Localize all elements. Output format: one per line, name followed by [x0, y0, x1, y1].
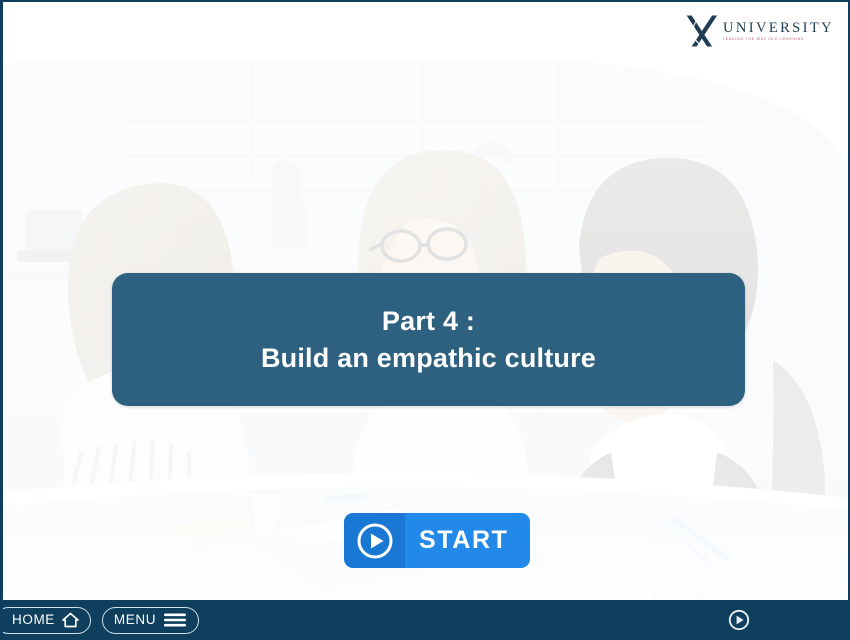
- start-play-icon-box[interactable]: [344, 513, 405, 568]
- university-logo: UNIVERSITY LEADING THE WAY IN E-LEARNING: [682, 10, 834, 52]
- play-circle-icon-bottom[interactable]: [728, 609, 750, 631]
- logo-tagline-text: LEADING THE WAY IN E-LEARNING: [723, 38, 834, 41]
- home-button-label: HOME: [12, 613, 55, 627]
- xc-monogram-icon: [682, 11, 724, 51]
- home-icon: [62, 612, 79, 628]
- slide-title-card: Part 4 : Build an empathic culture: [112, 273, 745, 406]
- start-button-label: START: [419, 526, 508, 555]
- bottom-navigation-bar: HOME MENU: [3, 600, 850, 640]
- play-circle-icon: [356, 522, 394, 560]
- start-label-box[interactable]: START: [405, 513, 530, 568]
- hamburger-icon: [163, 612, 187, 628]
- logo-university-text: UNIVERSITY: [723, 21, 834, 36]
- course-slide: Part 4 : Build an empathic culture START: [0, 0, 850, 640]
- slide-title-line-1: Part 4 :: [382, 303, 475, 340]
- menu-button-label: MENU: [114, 613, 156, 627]
- menu-button[interactable]: MENU: [102, 607, 199, 634]
- logo-wordmark: UNIVERSITY LEADING THE WAY IN E-LEARNING: [723, 21, 834, 42]
- slide-header: UNIVERSITY LEADING THE WAY IN E-LEARNING: [3, 2, 848, 60]
- hero-photo-area: Part 4 : Build an empathic culture START: [3, 60, 848, 602]
- home-button[interactable]: HOME: [0, 607, 91, 634]
- slide-title-line-2: Build an empathic culture: [261, 340, 596, 377]
- start-button[interactable]: START: [344, 513, 530, 568]
